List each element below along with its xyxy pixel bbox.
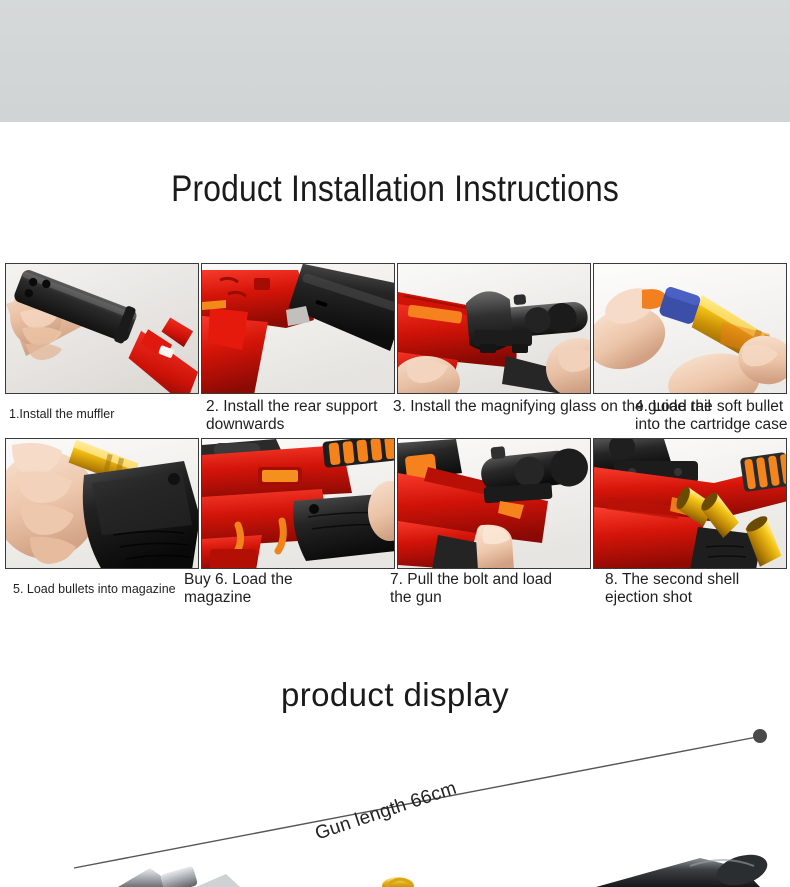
step-1-illustration bbox=[6, 264, 199, 394]
step-caption-6: Buy 6. Load the magazine bbox=[184, 571, 362, 607]
step-caption-8: 8. The second shell ejection shot bbox=[605, 571, 783, 607]
step-image-8[interactable] bbox=[593, 438, 787, 569]
step-caption-7: 7. Pull the bolt and load the gun bbox=[390, 571, 572, 607]
step-image-1[interactable] bbox=[5, 263, 199, 394]
measurement-endpoint-dot bbox=[753, 729, 767, 743]
steps-row-1-images bbox=[5, 263, 787, 394]
installation-steps-grid: 1.Install the muffler 2. Install the rea… bbox=[5, 263, 787, 613]
page-title: Product Installation Instructions bbox=[55, 168, 734, 210]
step-7-illustration bbox=[398, 439, 591, 569]
step-image-5[interactable] bbox=[5, 438, 199, 569]
step-image-2[interactable] bbox=[201, 263, 395, 394]
step-2-illustration bbox=[202, 264, 395, 394]
step-caption-1: 1.Install the muffler bbox=[9, 407, 199, 422]
step-8-illustration bbox=[594, 439, 787, 569]
steps-row-2-images bbox=[5, 438, 787, 569]
step-image-7[interactable] bbox=[397, 438, 591, 569]
steps-row-2-captions: 5. Load bullets into magazine Buy 6. Loa… bbox=[5, 569, 787, 613]
step-image-3[interactable] bbox=[397, 263, 591, 394]
step-3-illustration bbox=[398, 264, 591, 394]
step-caption-4: 4. Load the soft bullet into the cartrid… bbox=[635, 398, 790, 434]
product-photo-fragments bbox=[118, 849, 771, 887]
product-display-heading: product display bbox=[0, 676, 790, 714]
top-banner bbox=[0, 0, 790, 122]
steps-row-2 bbox=[5, 438, 787, 569]
step-caption-5: 5. Load bullets into magazine bbox=[13, 582, 213, 597]
steps-row-1 bbox=[5, 263, 787, 394]
step-6-illustration bbox=[202, 439, 395, 569]
step-4-illustration bbox=[594, 264, 787, 394]
steps-row-1-captions: 1.Install the muffler 2. Install the rea… bbox=[5, 394, 787, 438]
step-image-4[interactable] bbox=[593, 263, 787, 394]
step-5-illustration bbox=[6, 439, 199, 569]
step-image-6[interactable] bbox=[201, 438, 395, 569]
step-caption-2: 2. Install the rear support downwards bbox=[206, 398, 392, 434]
